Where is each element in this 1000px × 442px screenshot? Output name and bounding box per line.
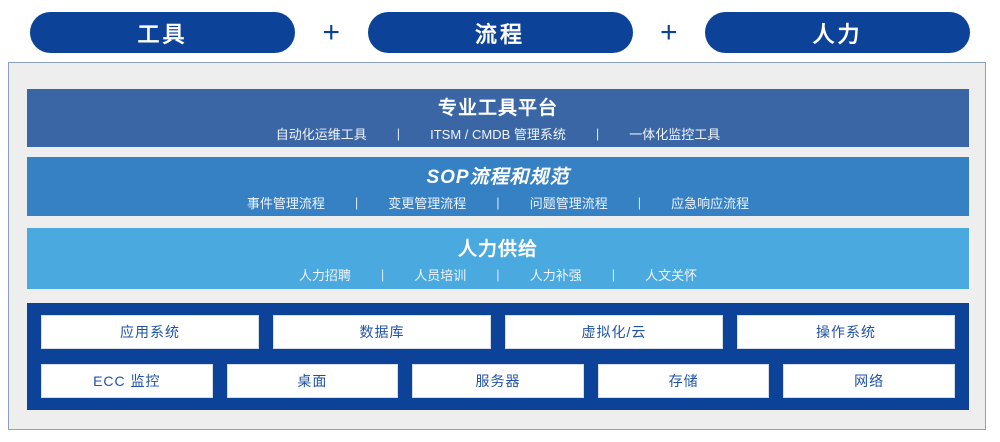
object-chip-application[interactable]: 应用系统 <box>41 315 259 349</box>
object-chip-label: 虚拟化/云 <box>582 322 647 342</box>
layer-item: 应急响应流程 <box>667 193 753 212</box>
layer-item: ITSM / CMDB 管理系统 <box>426 124 570 143</box>
layer-manpower-supply-title: 人力供给 <box>458 234 538 261</box>
item-separator: | <box>371 126 426 141</box>
layer-sop-process-title: SOP流程和规范 <box>426 162 569 189</box>
layer-item: 人员培训 <box>410 265 470 284</box>
item-separator: | <box>612 195 667 210</box>
diagram-frame: 专业工具平台 自动化运维工具 | ITSM / CMDB 管理系统 | 一体化监… <box>8 62 986 430</box>
item-separator: | <box>470 267 525 282</box>
object-chip-label: 应用系统 <box>120 322 180 342</box>
object-chip-operating-system[interactable]: 操作系统 <box>737 315 955 349</box>
pill-manpower[interactable]: 人力 <box>705 12 970 53</box>
object-chip-label: 操作系统 <box>816 322 876 342</box>
layer-sop-process: SOP流程和规范 事件管理流程 | 变更管理流程 | 问题管理流程 | 应急响应… <box>27 157 969 216</box>
managed-object-row-2: ECC 监控 桌面 服务器 存储 网络 <box>41 364 955 398</box>
pill-process-label: 流程 <box>475 17 525 49</box>
layer-item: 事件管理流程 <box>243 193 329 212</box>
layer-sop-process-items: 事件管理流程 | 变更管理流程 | 问题管理流程 | 应急响应流程 <box>243 193 753 212</box>
object-chip-label: 存储 <box>669 371 699 391</box>
object-chip-label: ECC 监控 <box>93 371 160 391</box>
layer-manpower-supply-items: 人力招聘 | 人员培训 | 人力补强 | 人文关怀 <box>295 265 701 284</box>
object-chip-label: 数据库 <box>360 322 405 342</box>
object-chip-label: 桌面 <box>297 371 327 391</box>
object-chip-database[interactable]: 数据库 <box>273 315 491 349</box>
pill-tools-label: 工具 <box>137 17 187 49</box>
layer-item: 人力补强 <box>526 265 586 284</box>
object-chip-label: 网络 <box>854 371 884 391</box>
item-separator: | <box>355 267 410 282</box>
layer-tool-platform: 专业工具平台 自动化运维工具 | ITSM / CMDB 管理系统 | 一体化监… <box>27 89 969 147</box>
layer-item: 人力招聘 <box>295 265 355 284</box>
object-chip-desktop[interactable]: 桌面 <box>227 364 399 398</box>
layer-item: 人文关怀 <box>641 265 701 284</box>
pill-process[interactable]: 流程 <box>368 12 633 53</box>
item-separator: | <box>570 126 625 141</box>
layer-item: 一体化监控工具 <box>625 124 724 143</box>
plus-icon-2: + <box>651 18 687 48</box>
item-separator: | <box>470 195 525 210</box>
object-chip-network[interactable]: 网络 <box>783 364 955 398</box>
layer-item: 自动化运维工具 <box>272 124 371 143</box>
plus-icon-1: + <box>313 18 349 48</box>
object-chip-storage[interactable]: 存储 <box>598 364 770 398</box>
capability-pill-row: 工具 + 流程 + 人力 <box>30 12 970 53</box>
layer-tool-platform-items: 自动化运维工具 | ITSM / CMDB 管理系统 | 一体化监控工具 <box>272 124 725 143</box>
item-separator: | <box>586 267 641 282</box>
layer-tool-platform-title: 专业工具平台 <box>438 93 558 120</box>
layer-item: 问题管理流程 <box>526 193 612 212</box>
object-chip-virtualization-cloud[interactable]: 虚拟化/云 <box>505 315 723 349</box>
object-chip-ecc-monitoring[interactable]: ECC 监控 <box>41 364 213 398</box>
item-separator: | <box>329 195 384 210</box>
pill-tools[interactable]: 工具 <box>30 12 295 53</box>
managed-object-row-1: 应用系统 数据库 虚拟化/云 操作系统 <box>41 315 955 349</box>
pill-manpower-label: 人力 <box>812 17 862 49</box>
object-chip-server[interactable]: 服务器 <box>412 364 584 398</box>
layer-manpower-supply: 人力供给 人力招聘 | 人员培训 | 人力补强 | 人文关怀 <box>27 228 969 289</box>
object-chip-label: 服务器 <box>475 371 520 391</box>
layer-item: 变更管理流程 <box>384 193 470 212</box>
managed-object-panel: 应用系统 数据库 虚拟化/云 操作系统 ECC 监控 桌面 服务器 存储 <box>27 303 969 410</box>
